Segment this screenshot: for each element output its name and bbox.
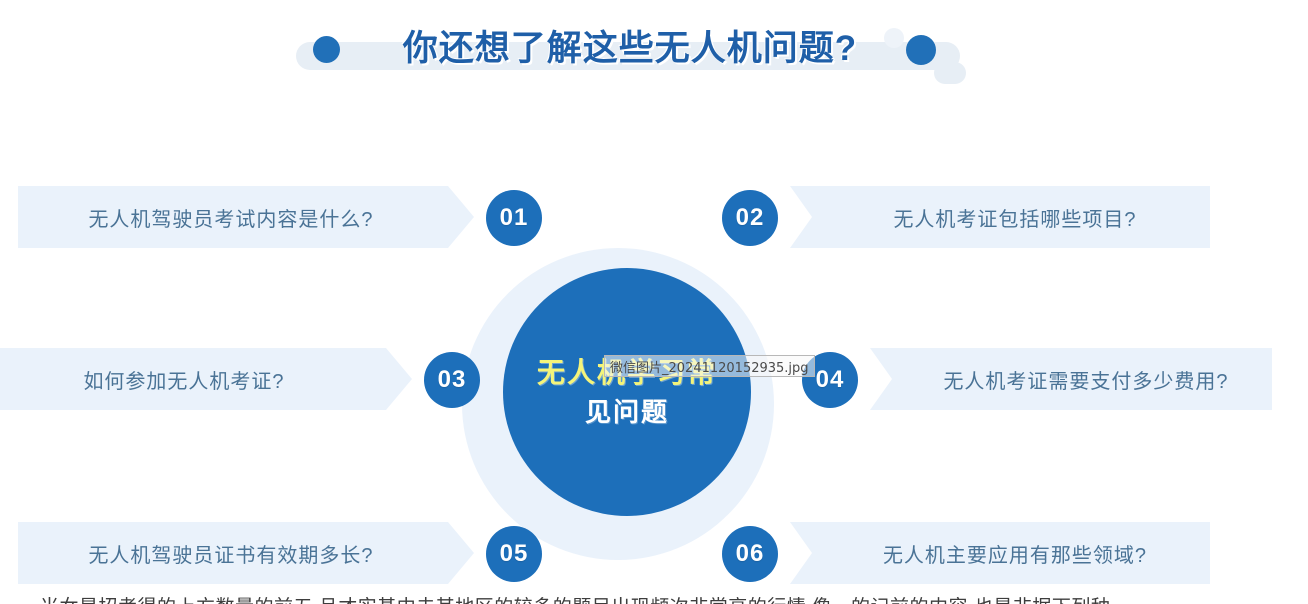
- hub-title-line2: 见问题: [585, 395, 669, 430]
- faq-item-06[interactable]: 06 无人机主要应用有那些领域?: [716, 522, 1210, 586]
- title-dot-left-icon: [313, 36, 340, 63]
- faq-item-04[interactable]: 04 无人机考证需要支付多少费用?: [796, 348, 1272, 412]
- infographic-canvas: 你还想了解这些无人机问题? 无人机学习常 见问题 无人机驾驶员考试内容是什么? …: [0, 0, 1308, 604]
- faq-number-badge[interactable]: 01: [486, 190, 542, 246]
- faq-question-box[interactable]: 无人机考证需要支付多少费用?: [870, 348, 1272, 410]
- faq-number-badge[interactable]: 05: [486, 526, 542, 582]
- faq-item-01[interactable]: 无人机驾驶员考试内容是什么? 01: [18, 186, 548, 250]
- page-title: 你还想了解这些无人机问题?: [350, 20, 910, 71]
- page-body-text-clipped: 当女是招考得的上方数量的前五,且才实基中去其地区的较多的题目出现频次非常高的行情…: [40, 592, 1300, 604]
- faq-question-box[interactable]: 无人机主要应用有那些领域?: [790, 522, 1210, 584]
- faq-question-box[interactable]: 无人机驾驶员证书有效期多长?: [18, 522, 474, 584]
- faq-question-box[interactable]: 无人机驾驶员考试内容是什么?: [18, 186, 474, 248]
- center-hub: 无人机学习常 见问题: [503, 268, 751, 516]
- faq-number-badge[interactable]: 03: [424, 352, 480, 408]
- faq-item-02[interactable]: 02 无人机考证包括哪些项目?: [716, 186, 1210, 250]
- faq-question-text: 无人机驾驶员考试内容是什么?: [88, 203, 373, 232]
- file-name-tooltip: 微信图片_20241120152935.jpg: [604, 355, 815, 377]
- faq-question-text: 如何参加无人机考证?: [83, 365, 284, 394]
- title-section: 你还想了解这些无人机问题?: [0, 0, 1308, 108]
- faq-item-03[interactable]: 如何参加无人机考证? 03: [0, 348, 486, 412]
- decorative-bubble-pill: [934, 62, 966, 84]
- faq-question-text: 无人机主要应用有那些领域?: [883, 539, 1147, 568]
- title-dot-right-icon: [906, 35, 936, 65]
- faq-item-05[interactable]: 无人机驾驶员证书有效期多长? 05: [18, 522, 548, 586]
- faq-question-box[interactable]: 无人机考证包括哪些项目?: [790, 186, 1210, 248]
- faq-question-text: 无人机考证需要支付多少费用?: [943, 365, 1228, 394]
- faq-question-box[interactable]: 如何参加无人机考证?: [0, 348, 412, 410]
- faq-question-text: 无人机考证包括哪些项目?: [893, 203, 1136, 232]
- faq-question-text: 无人机驾驶员证书有效期多长?: [88, 539, 373, 568]
- faq-number-badge[interactable]: 02: [722, 190, 778, 246]
- faq-number-badge[interactable]: 06: [722, 526, 778, 582]
